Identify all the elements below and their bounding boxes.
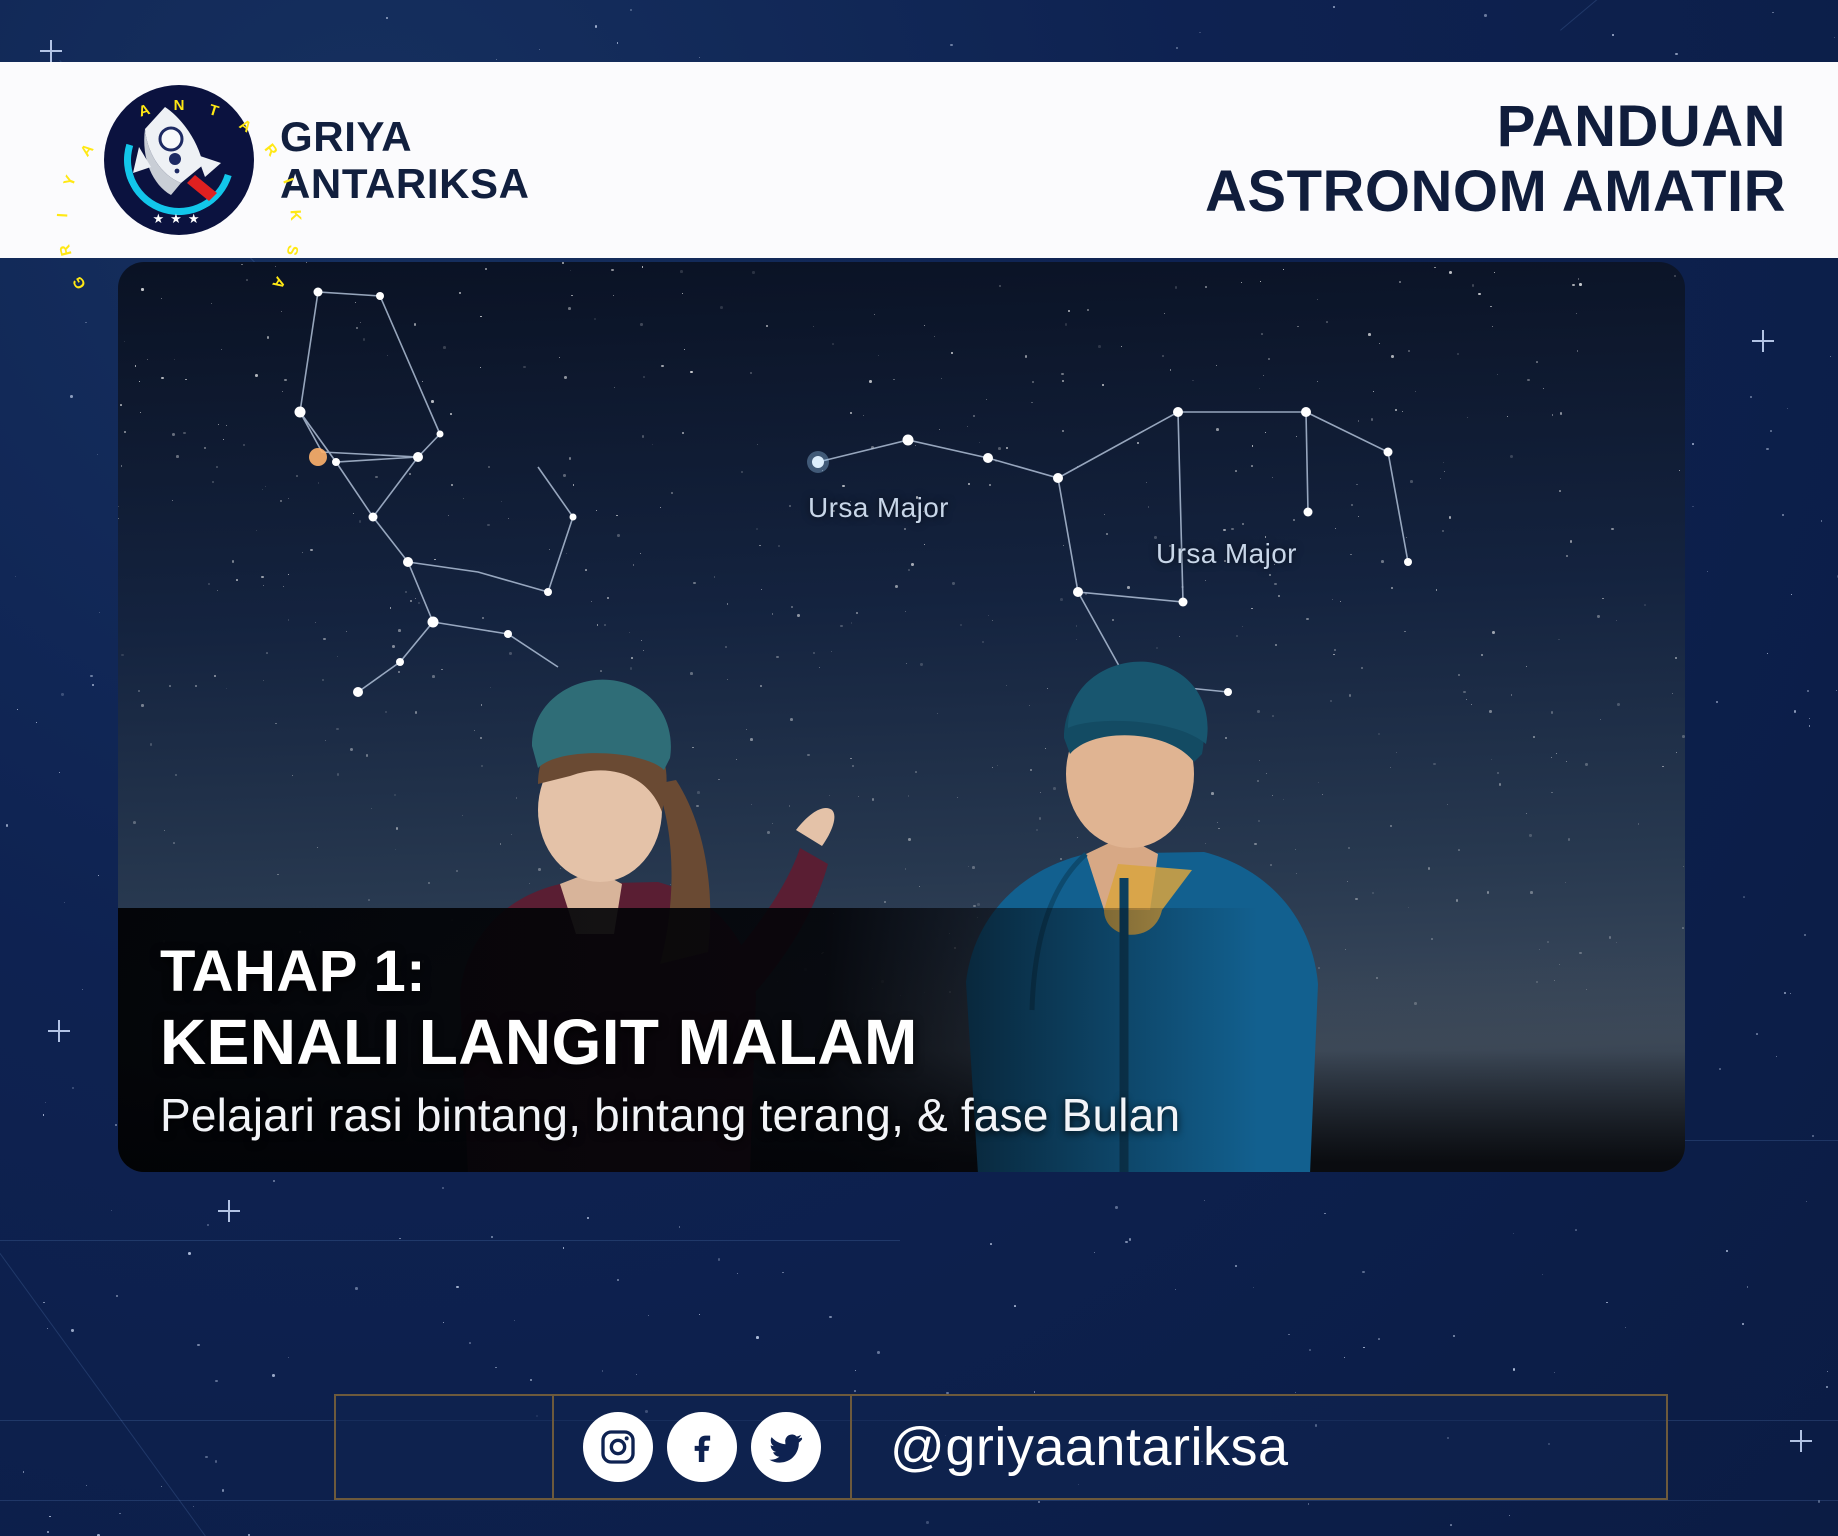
caption-subtitle: Pelajari rasi bintang, bintang terang, &…: [160, 1090, 1218, 1142]
caption-headline: KENALI LANGIT MALAM: [160, 1009, 1218, 1076]
facebook-icon[interactable]: [667, 1412, 737, 1482]
page-title-line1: PANDUAN: [1205, 95, 1786, 160]
instagram-icon[interactable]: [583, 1412, 653, 1482]
brand-block: GRIYA ANTARIKSA ★★★ GRIYA ANTARIKSA: [104, 85, 530, 235]
rocket-icon: [131, 103, 227, 211]
brand-name: GRIYA ANTARIKSA: [280, 113, 530, 207]
constellation-label: Ursa Major: [808, 494, 949, 522]
twitter-icon[interactable]: [751, 1412, 821, 1482]
social-icon-group: [552, 1394, 852, 1500]
hero-photo-panel: Ursa Major Ursa Major TAHAP 1: KENALI LA…: [118, 262, 1685, 1172]
griya-antariksa-logo: GRIYA ANTARIKSA ★★★: [104, 85, 254, 235]
header-bar: GRIYA ANTARIKSA ★★★ GRIYA ANTARIKSA PAND…: [0, 62, 1838, 258]
footer-bar: @griyaantariksa: [334, 1394, 1668, 1500]
page-title: PANDUAN ASTRONOM AMATIR: [1205, 95, 1786, 225]
social-handle: @griyaantariksa: [890, 1420, 1288, 1474]
page-title-line2: ASTRONOM AMATIR: [1205, 160, 1786, 225]
brand-name-line1: GRIYA: [280, 113, 530, 160]
constellation-label: Ursa Major: [1156, 540, 1297, 568]
hero-caption: TAHAP 1: KENALI LANGIT MALAM Pelajari ra…: [118, 908, 1258, 1172]
brand-name-line2: ANTARIKSA: [280, 160, 530, 207]
caption-eyebrow: TAHAP 1:: [160, 942, 1218, 1003]
logo-stars: ★★★: [104, 211, 254, 227]
